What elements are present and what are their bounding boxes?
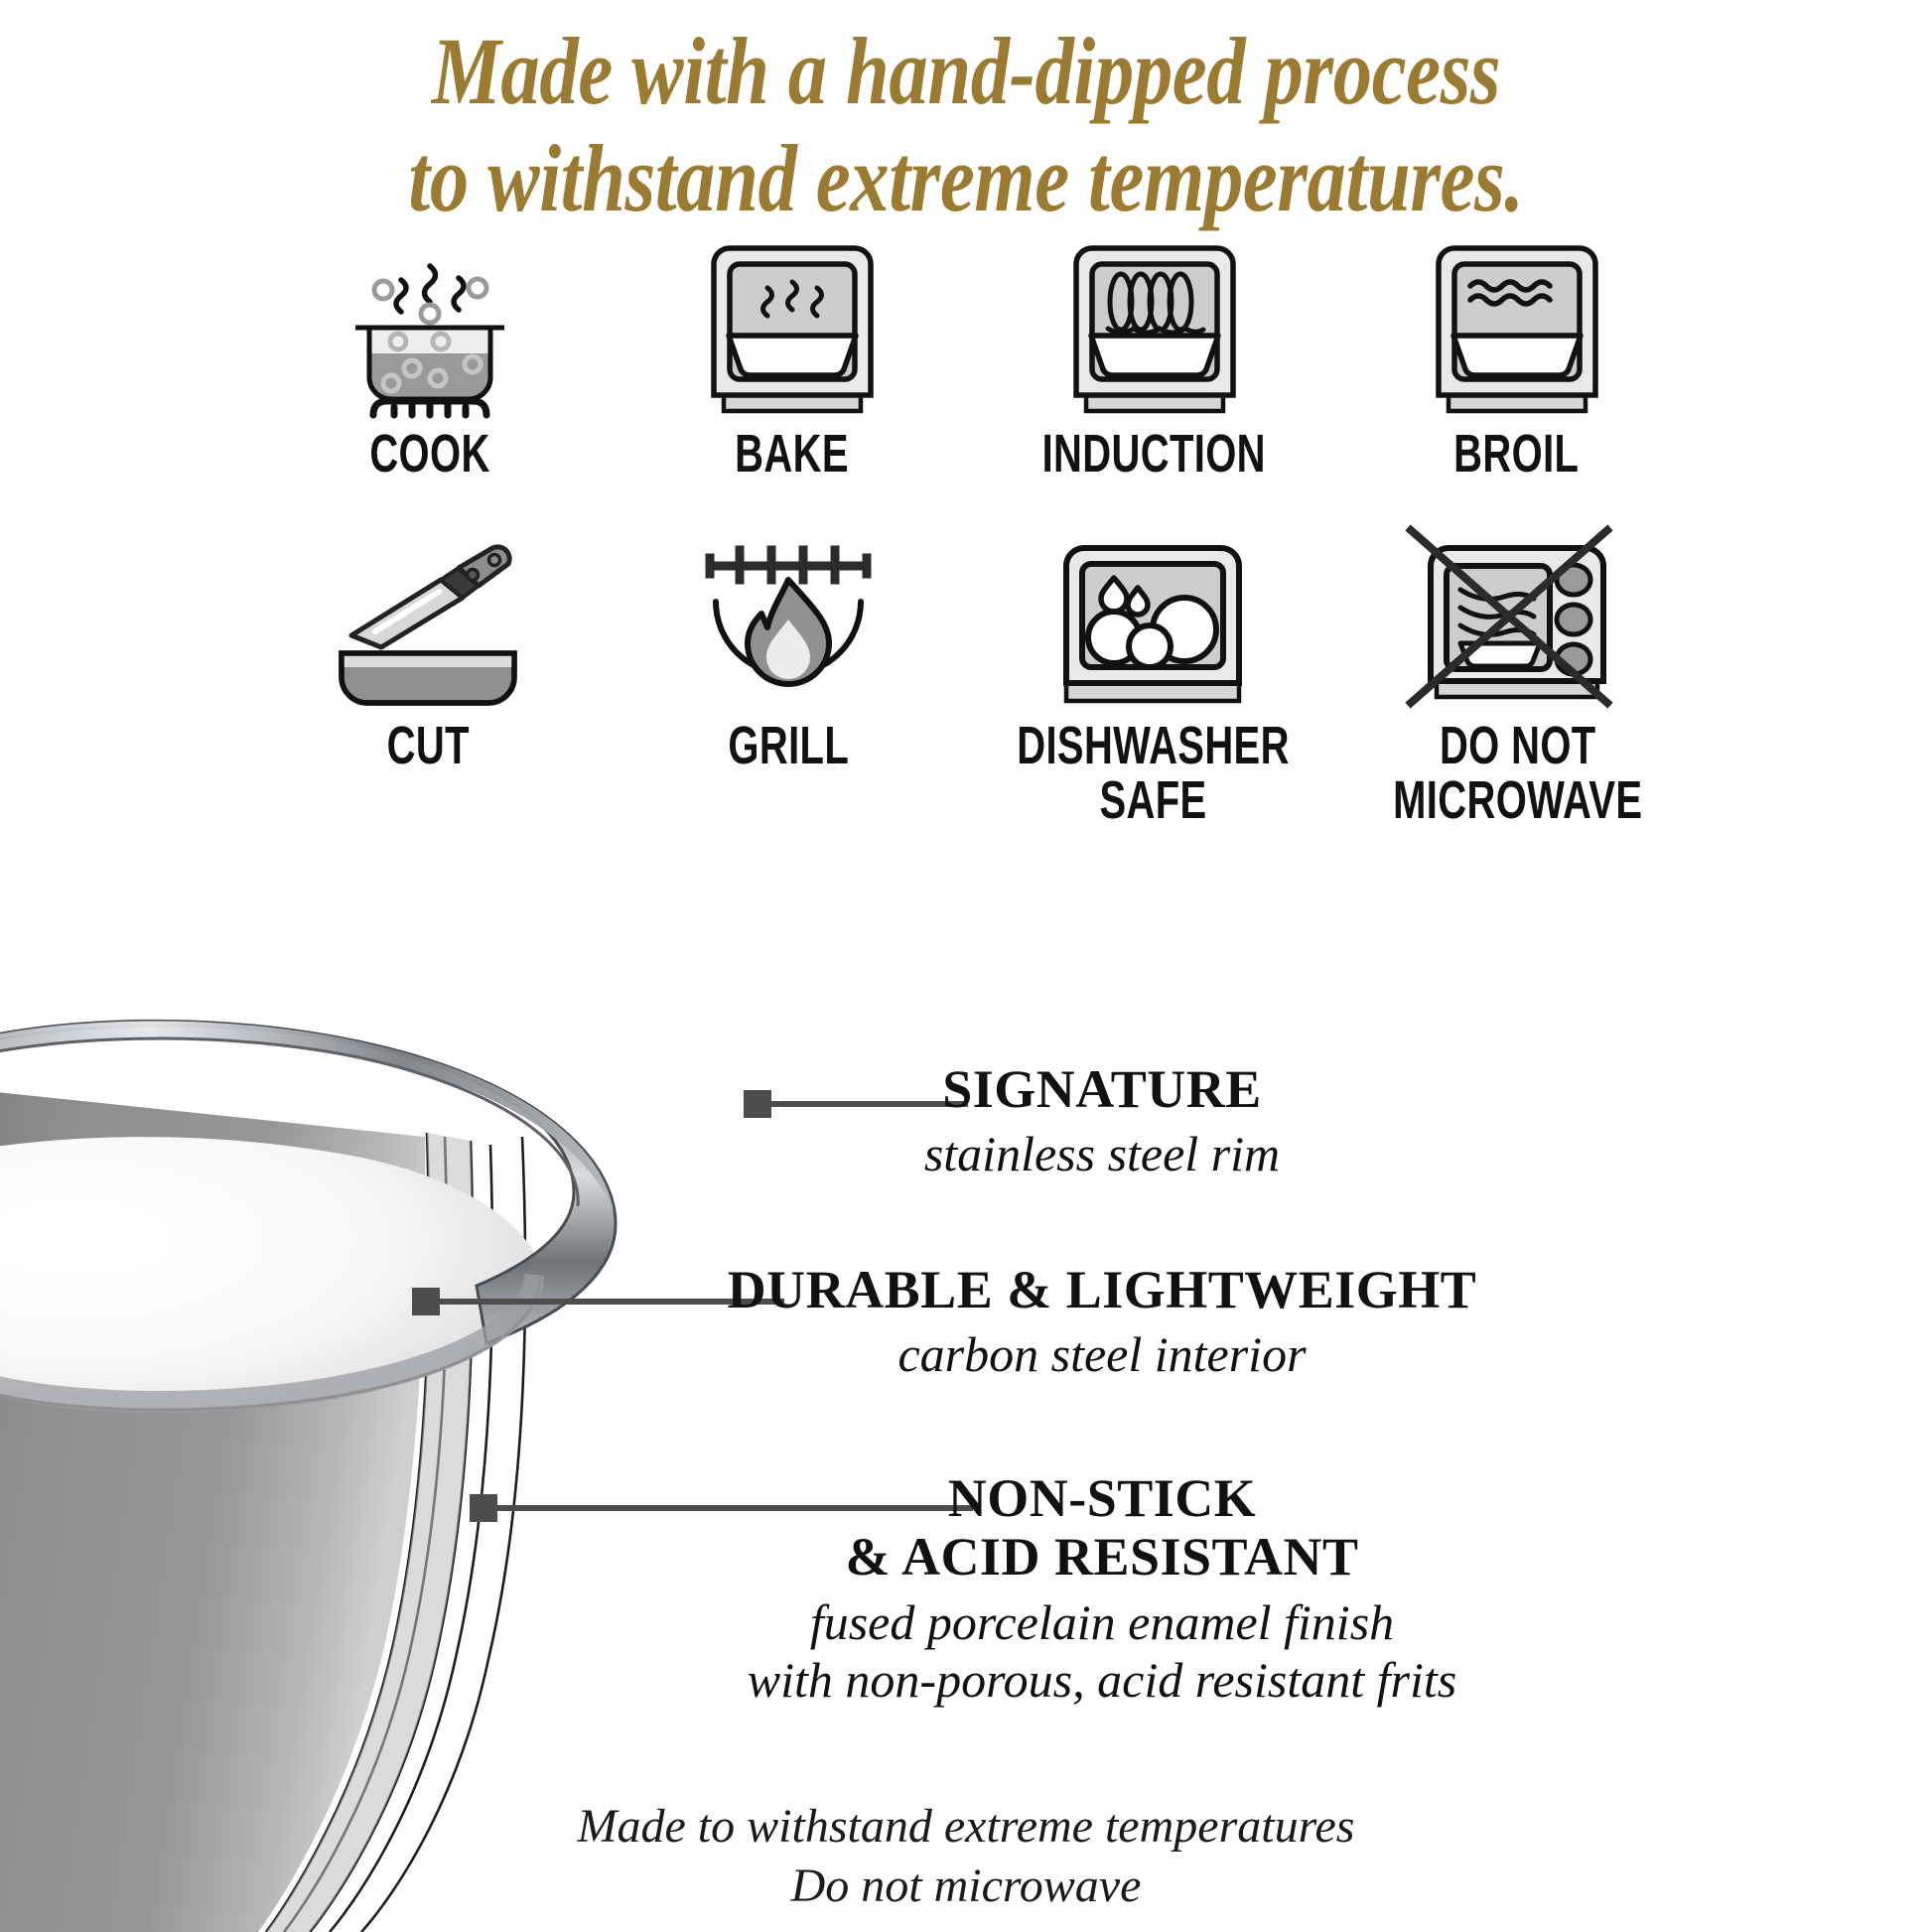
icon-label-cook: COOK [369, 427, 489, 481]
icon-label-do-not-microwave: DO NOT MICROWAVE [1393, 719, 1642, 828]
icon-cell-broil: BROIL [1335, 236, 1698, 481]
icon-cell-cut: CUT [248, 528, 609, 828]
feature-icon-grid: COOK [248, 236, 1698, 828]
callout-title-non-stick: NON-STICK & ACID RESISTANT [685, 1469, 1519, 1587]
icon-cell-induction: INDUCTION [973, 236, 1335, 481]
icon-label-bake: BAKE [735, 427, 849, 481]
cook-icon [316, 236, 544, 415]
product-illustration-dutch-oven [0, 839, 695, 1932]
icon-label-induction: INDUCTION [1042, 427, 1266, 481]
cut-icon [314, 528, 542, 707]
callout-subtitle-non-stick: fused porcelain enamel finish with non-p… [685, 1593, 1519, 1709]
icon-label-grill: GRILL [729, 719, 850, 772]
icon-row-care-instructions: CUT [248, 528, 1698, 828]
icon-cell-cook: COOK [248, 236, 611, 481]
icon-cell-grill: GRILL [609, 528, 969, 828]
callout-non-stick-acid-resistant: NON-STICK & ACID RESISTANT fused porcela… [685, 1469, 1519, 1709]
bake-icon [678, 236, 906, 415]
headline-line-1: Made with a hand-dipped process [174, 18, 1758, 125]
callout-signature: SIGNATURE stainless steel rim [755, 1060, 1449, 1182]
icon-label-dishwasher-safe: DISHWASHER SAFE [1017, 719, 1290, 828]
grill-icon [674, 528, 902, 707]
induction-icon [1040, 236, 1269, 415]
callout-subtitle-durable: carbon steel interior [635, 1325, 1569, 1383]
broil-icon [1403, 236, 1631, 415]
icon-cell-dishwasher-safe: DISHWASHER SAFE [969, 528, 1337, 828]
callout-subtitle-signature: stainless steel rim [755, 1125, 1449, 1182]
icon-cell-bake: BAKE [611, 236, 973, 481]
headline-line-2: to withstand extreme temperatures. [174, 125, 1758, 232]
icon-row-cooking-methods: COOK [248, 236, 1698, 481]
callout-durable-lightweight: DURABLE & LIGHTWEIGHT carbon steel inter… [635, 1261, 1569, 1383]
callout-title-signature: SIGNATURE [755, 1060, 1449, 1119]
page-title: Made with a hand-dipped process to withs… [174, 18, 1758, 231]
icon-cell-do-not-microwave: DO NOT MICROWAVE [1337, 528, 1698, 828]
dishwasher-safe-icon [1038, 528, 1267, 707]
footer-disclaimer: Made to withstand extreme temperatures D… [0, 1797, 1932, 1915]
do-not-microwave-icon [1403, 528, 1631, 707]
icon-label-cut: CUT [387, 719, 470, 772]
callout-title-durable: DURABLE & LIGHTWEIGHT [635, 1261, 1569, 1319]
icon-label-broil: BROIL [1453, 427, 1579, 481]
